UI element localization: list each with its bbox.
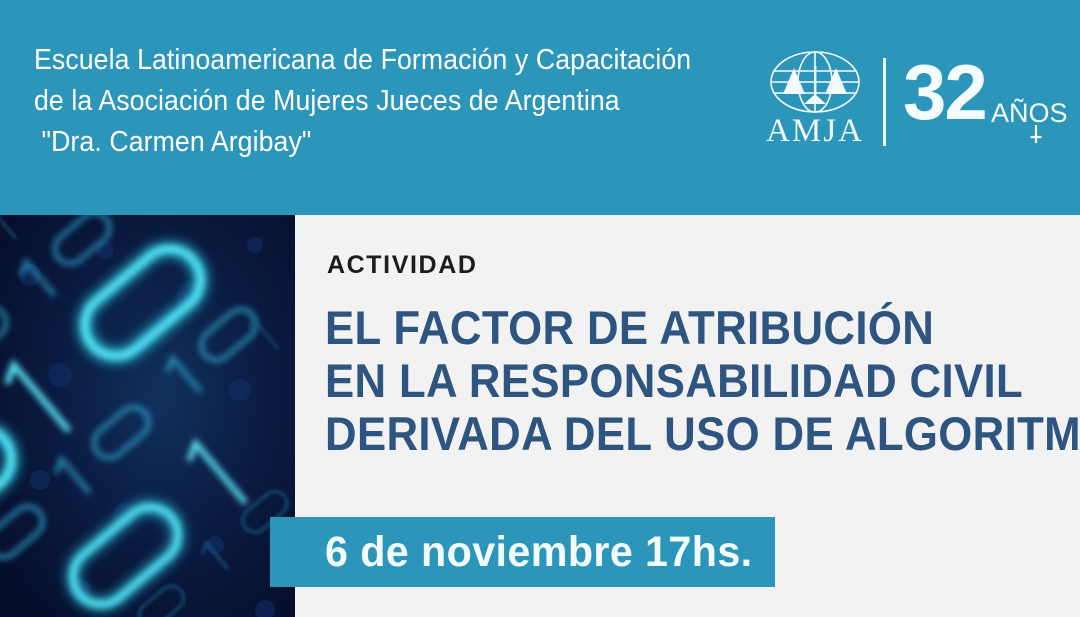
event-date-text: 6 de noviembre 17hs.	[325, 526, 753, 578]
amja-logo-block: AMJA 32 AÑOS	[755, 48, 1055, 168]
activity-kicker: ACTIVIDAD	[327, 251, 478, 280]
globe-scales-icon	[760, 50, 870, 116]
header-line-2: de la Asociación de Mujeres Jueces de Ar…	[34, 81, 678, 122]
venus-symbol-icon	[1029, 124, 1043, 144]
poster-header: Escuela Latinoamericana de Formación y C…	[0, 0, 1080, 215]
title-line-3: DERIVADA DEL USO DE ALGORITMOS	[325, 407, 1004, 460]
event-poster: Escuela Latinoamericana de Formación y C…	[0, 0, 1080, 617]
header-line-1: Escuela Latinoamericana de Formación y C…	[34, 40, 678, 81]
title-line-1: EL FACTOR DE ATRIBUCIÓN	[325, 301, 1004, 354]
amja-logo: AMJA	[755, 50, 875, 148]
date-banner: 6 de noviembre 17hs.	[270, 517, 775, 587]
logo-divider	[883, 58, 886, 146]
anniversary-number: 32	[903, 46, 986, 138]
organization-name: Escuela Latinoamericana de Formación y C…	[34, 40, 734, 163]
header-line-3: "Dra. Carmen Argibay"	[34, 122, 678, 163]
title-line-2: EN LA RESPONSABILIDAD CIVIL	[325, 354, 1004, 407]
amja-acronym: AMJA	[755, 114, 875, 148]
page-title: EL FACTOR DE ATRIBUCIÓN EN LA RESPONSABI…	[325, 301, 1055, 460]
binary-code-artwork	[0, 215, 295, 617]
anniversary-badge: 32 AÑOS	[903, 48, 1053, 158]
